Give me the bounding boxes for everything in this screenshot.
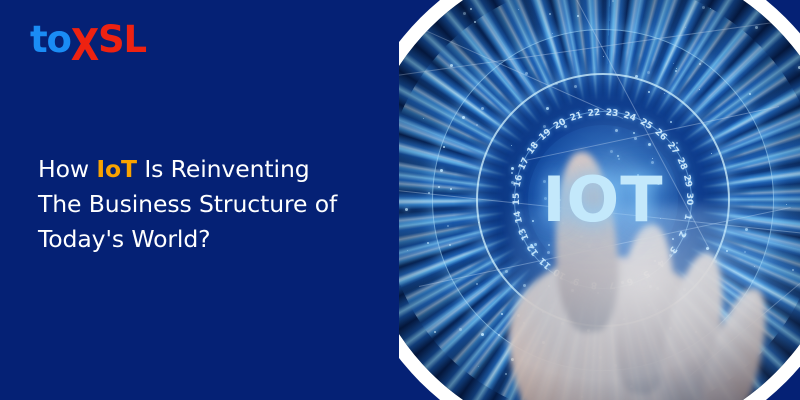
- particle-dot: [450, 188, 452, 190]
- particle-dot: [474, 21, 476, 23]
- particle-dot: [498, 334, 500, 336]
- particle-dot: [505, 373, 507, 375]
- particle-dot: [525, 72, 528, 75]
- particle-dot: [710, 8, 711, 9]
- particle-dot: [711, 153, 712, 154]
- particle-dot: [459, 328, 462, 331]
- particle-dot: [555, 82, 558, 85]
- particle-dot: [786, 204, 787, 205]
- particle-dot: [501, 313, 503, 315]
- particle-dot: [648, 91, 650, 93]
- particle-dot: [407, 250, 408, 251]
- particle-dot: [481, 107, 484, 110]
- particle-dot: [673, 63, 674, 64]
- particle-dot: [699, 63, 701, 65]
- artwork-circle-clip: 2425262728293012345678910111213141516171…: [399, 0, 800, 400]
- particle-dot: [664, 93, 665, 94]
- logo-text-to: to: [30, 18, 71, 61]
- page-title: How IoT Is Reinventing The Business Stru…: [38, 152, 368, 257]
- toxsl-logo[interactable]: toXSL: [30, 21, 146, 58]
- headline-line1-after: Is Reinventing: [137, 155, 310, 183]
- particle-dot: [476, 283, 478, 285]
- particle-dot: [440, 169, 443, 172]
- headline-line-3: Today's World?: [38, 222, 368, 257]
- particle-dot: [676, 68, 677, 69]
- particle-dot: [476, 124, 478, 126]
- particle-dot: [423, 118, 424, 119]
- headline-line-2: The Business Structure of: [38, 187, 368, 222]
- particle-dot: [647, 71, 650, 74]
- particle-dot: [434, 331, 436, 333]
- particle-dot: [481, 333, 484, 336]
- particle-dot: [675, 70, 677, 72]
- particle-dot: [447, 225, 449, 227]
- headline-line1-before: How: [38, 155, 96, 183]
- logo-text-x: X: [71, 23, 98, 67]
- iot-artwork: 2425262728293012345678910111213141516171…: [399, 0, 800, 400]
- logo-text-sl: SL: [98, 18, 146, 61]
- particle-dot: [478, 222, 479, 223]
- particle-dot: [449, 244, 451, 246]
- particle-dot: [755, 26, 758, 29]
- dial-number: 23: [601, 105, 622, 121]
- particle-dot: [549, 13, 551, 15]
- particle-dot: [438, 186, 440, 188]
- headline-accent-iot: IoT: [96, 155, 137, 183]
- particle-dot: [552, 33, 553, 34]
- blog-banner: 2425262728293012345678910111213141516171…: [0, 0, 800, 400]
- particle-dot: [699, 89, 700, 90]
- headline-line-1: How IoT Is Reinventing: [38, 152, 368, 187]
- iot-wordmark: IOT: [542, 169, 663, 231]
- particle-dot: [462, 116, 465, 119]
- particle-dot: [574, 85, 577, 88]
- particle-dot: [470, 8, 472, 10]
- particle-dot: [603, 56, 604, 57]
- particle-dot: [450, 64, 453, 67]
- particle-dot: [577, 15, 579, 17]
- particle-dot: [405, 208, 408, 211]
- particle-dot: [463, 12, 466, 15]
- particle-dot: [478, 366, 479, 367]
- particle-dot: [635, 75, 638, 78]
- particle-dot: [749, 93, 751, 95]
- particle-dot: [685, 27, 686, 28]
- particle-dot: [702, 6, 705, 9]
- particle-dot: [427, 242, 429, 244]
- particle-dot: [518, 9, 519, 10]
- particle-dot: [443, 146, 445, 148]
- particle-dot: [428, 192, 430, 194]
- particle-dot: [612, 0, 614, 2]
